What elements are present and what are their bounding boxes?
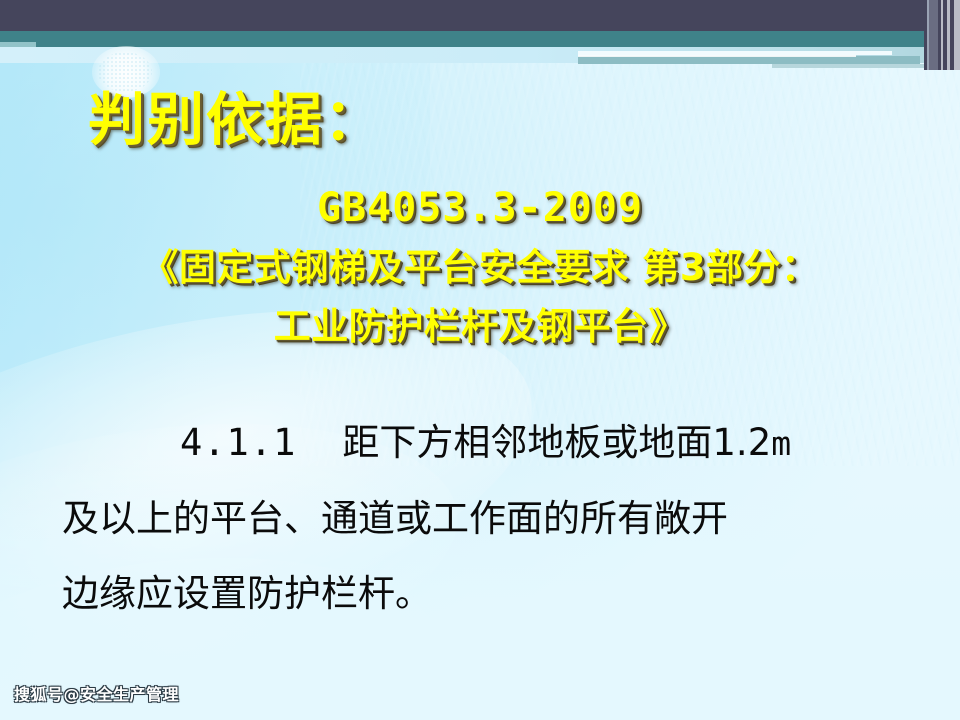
header-band-navy	[0, 0, 960, 31]
standard-name-line-1: 《固定式钢梯及平台安全要求 第3部分：	[0, 237, 960, 291]
clause-line-2: 及以上的平台、通道或工作面的所有敞开	[62, 481, 910, 556]
standard-code: GB4053.3-2009	[0, 185, 960, 231]
standard-name-line-2: 工业防护栏杆及钢平台》	[0, 296, 960, 350]
clause-unit: m	[771, 424, 791, 463]
clause-number: 4.1.1	[180, 421, 296, 464]
page-title: 判别依据：	[88, 74, 383, 156]
header-stripe-8	[954, 0, 960, 70]
header-accent-line-lower	[772, 64, 932, 68]
header-band-teal	[0, 31, 960, 42]
header-accent-band	[578, 56, 920, 64]
watermark-label: 搜狐号@安全生产管理	[14, 681, 179, 705]
header-stripe-2	[929, 0, 938, 70]
slide-canvas: 判别依据： GB4053.3-2009 《固定式钢梯及平台安全要求 第3部分： …	[0, 0, 960, 720]
standard-reference-block: GB4053.3-2009 《固定式钢梯及平台安全要求 第3部分： 工业防护栏杆…	[0, 185, 960, 350]
clause-text-part1: 距下方相邻地板或地面1.2	[342, 421, 771, 464]
clause-line-3: 边缘应设置防护栏杆。	[62, 556, 910, 631]
header-vertical-stripes	[924, 0, 960, 70]
clause-body: 4.1.1距下方相邻地板或地面1.2m 及以上的平台、通道或工作面的所有敞开 边…	[62, 405, 910, 631]
clause-line-1: 4.1.1距下方相邻地板或地面1.2m	[62, 405, 910, 481]
header-accent-line-white-thin	[578, 55, 856, 57]
